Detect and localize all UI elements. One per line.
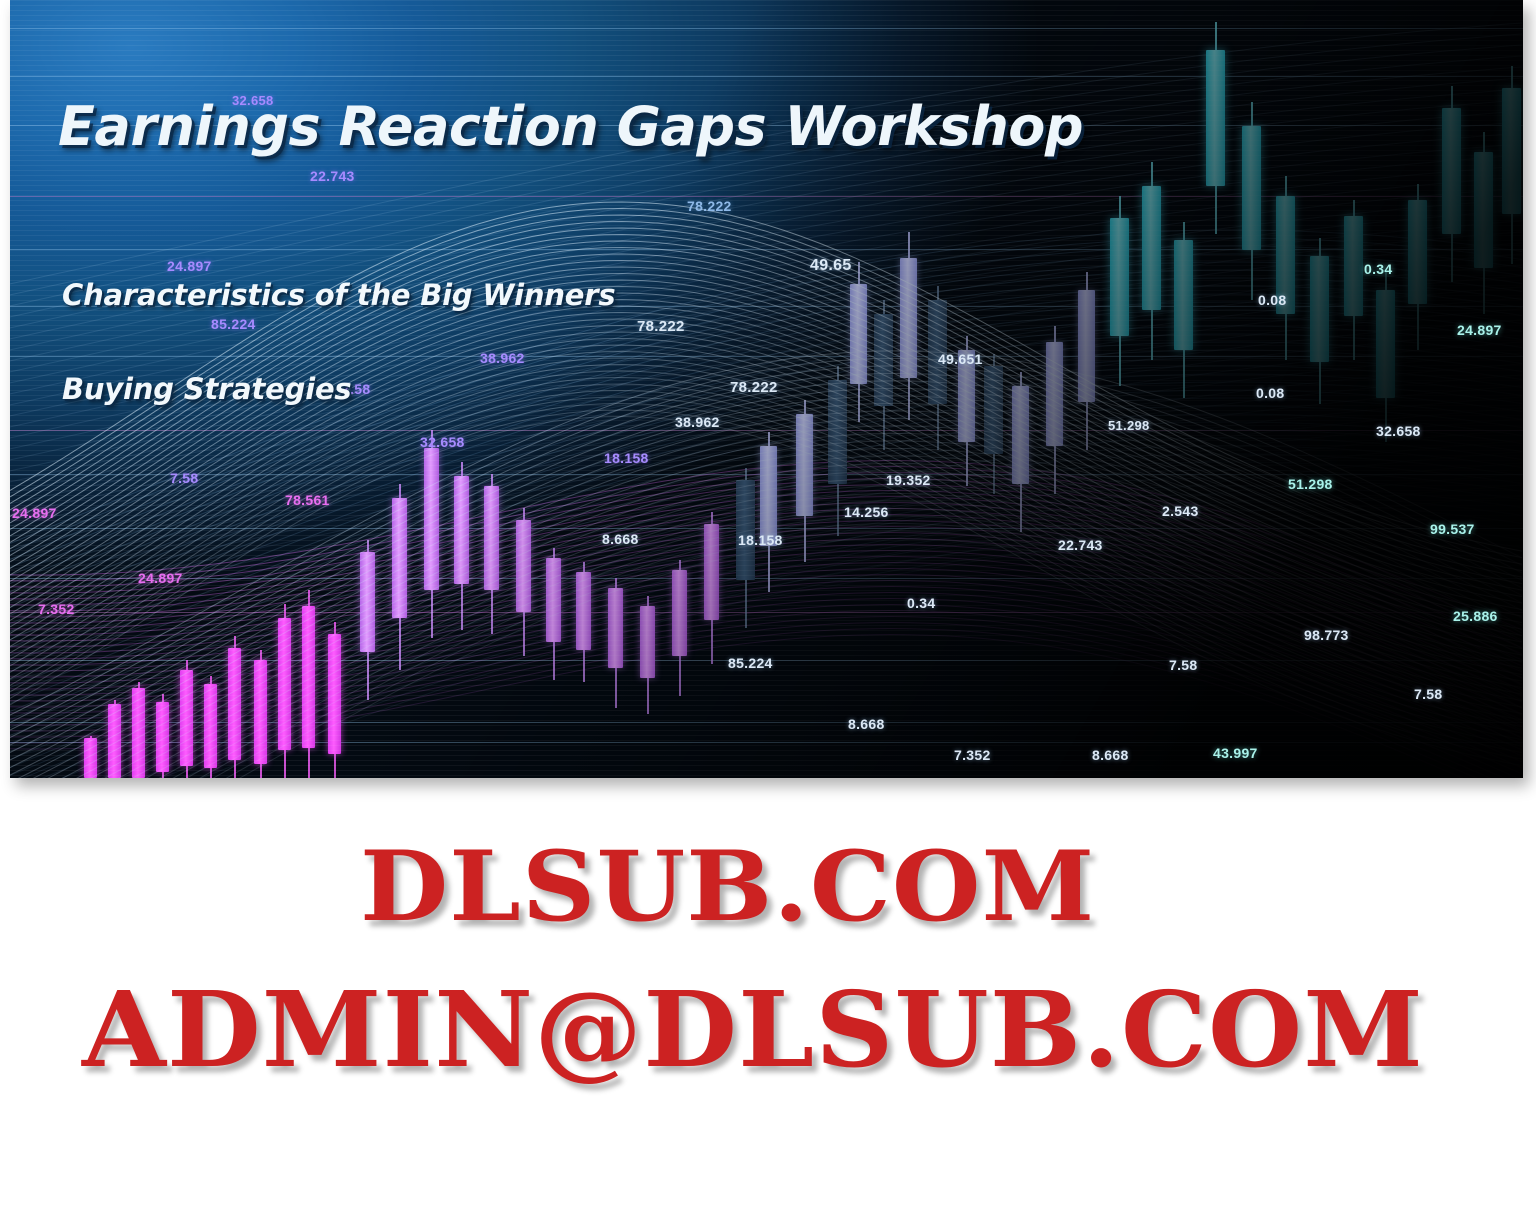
price-label: 2.543 xyxy=(1162,503,1199,519)
price-label: 14.256 xyxy=(844,504,889,520)
price-label: 25.886 xyxy=(1453,608,1498,624)
price-label: 98.773 xyxy=(1304,627,1349,643)
price-label: 78.222 xyxy=(687,198,732,214)
price-label: 7.58 xyxy=(1414,686,1442,702)
price-label: 38.962 xyxy=(675,414,720,430)
price-label: 7.58 xyxy=(170,470,198,486)
price-label: 22.743 xyxy=(1058,537,1103,553)
hero-subtitle-strategies: Buying Strategies xyxy=(62,372,351,406)
price-label: 32.658 xyxy=(420,434,465,450)
price-label: 85.224 xyxy=(728,655,773,671)
price-label: 18.158 xyxy=(604,450,649,466)
price-label: 49.65 xyxy=(810,257,852,275)
page-title: Earnings Reaction Gaps Workshop xyxy=(58,95,1083,158)
price-label: 24.897 xyxy=(138,570,183,586)
hero-chart-image: 32.65822.74378.22224.89749.6585.22478.22… xyxy=(10,0,1523,778)
price-label: 24.897 xyxy=(12,505,57,521)
price-label: 7.352 xyxy=(38,601,75,617)
price-label: 0.34 xyxy=(1364,261,1392,277)
price-label: 8.668 xyxy=(1092,747,1129,763)
page-root: 32.65822.74378.22224.89749.6585.22478.22… xyxy=(0,0,1536,1232)
price-label: 18.158 xyxy=(738,532,783,548)
watermark-email: ADMIN@DLSUB.COM xyxy=(82,968,1424,1091)
hero-subtitle-characteristics: Characteristics of the Big Winners xyxy=(62,278,615,312)
price-label: 78.561 xyxy=(285,492,330,508)
price-label: 38.962 xyxy=(480,350,525,366)
watermark-site: DLSUB.COM xyxy=(360,830,1095,943)
price-label: 85.224 xyxy=(211,316,256,332)
price-label: 22.743 xyxy=(310,168,355,184)
price-label: 8.668 xyxy=(848,716,885,732)
price-label: 51.298 xyxy=(1288,476,1333,492)
price-label: 43.997 xyxy=(1213,745,1258,761)
price-label: 24.897 xyxy=(167,258,212,274)
price-label: 99.537 xyxy=(1430,521,1475,537)
price-label: 19.352 xyxy=(886,472,931,488)
price-label: 0.08 xyxy=(1256,385,1284,401)
price-label: 8.668 xyxy=(602,531,639,547)
price-label: 51.298 xyxy=(1108,418,1150,433)
price-label: 78.222 xyxy=(730,379,778,396)
price-label: 7.352 xyxy=(954,747,991,763)
price-label: 0.08 xyxy=(1258,292,1286,308)
price-label: 32.658 xyxy=(1376,423,1421,439)
price-label: 24.897 xyxy=(1457,322,1502,338)
price-label: 7.58 xyxy=(1169,657,1197,673)
price-label: 49.651 xyxy=(938,351,983,367)
price-label: 0.34 xyxy=(907,595,935,611)
price-label: 78.222 xyxy=(637,318,685,335)
